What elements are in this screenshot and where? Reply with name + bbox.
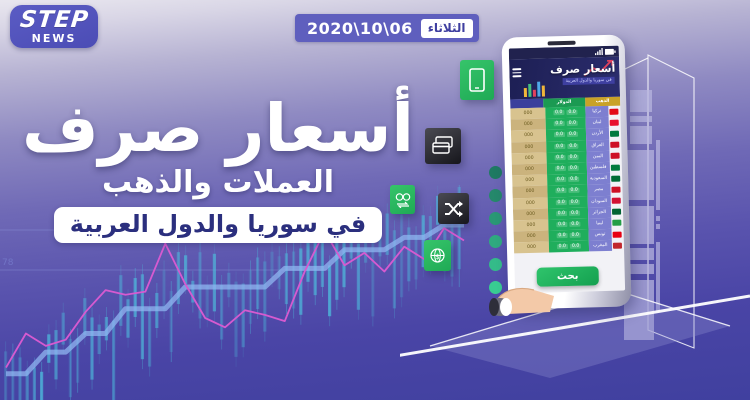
promo-banner: 78 25.01 (0, 0, 750, 400)
country-flag-icon (611, 206, 623, 218)
cell-gold: 000 (512, 186, 547, 198)
progress-dot (489, 235, 502, 248)
progress-dot (489, 189, 502, 202)
headline-line-2: العملات والذهب (18, 168, 418, 198)
signal-icon (595, 48, 603, 55)
app-header: أسعار صرف في سوريا والدول العربية (509, 57, 620, 100)
country-flag-icon (612, 240, 624, 252)
cell-country: تونس (588, 229, 611, 241)
cell-country: لبنان (585, 117, 608, 129)
cell-country: فلسطين (587, 162, 610, 174)
country-flag-icon (610, 173, 622, 185)
phone-screen: أسعار صرف في سوريا والدول العربية الذهب … (509, 46, 625, 294)
country-flag-icon (608, 106, 620, 118)
progress-dot (489, 166, 502, 179)
app-title: أسعار صرف (550, 62, 616, 77)
cell-gold: 000 (510, 108, 545, 120)
cell-country: الجزائر (588, 207, 611, 219)
app-subtitle: في سوريا والدول العربية (563, 77, 615, 85)
cell-country: ليبيا (588, 218, 611, 230)
country-flag-icon (611, 195, 623, 207)
country-flag-icon (609, 128, 621, 140)
phone-mockup: أسعار صرف في سوريا والدول العربية الذهب … (501, 34, 631, 309)
logo-text-news: NEWS (32, 33, 77, 44)
cell-country: الأردن (586, 128, 609, 140)
svg-text:$: $ (435, 253, 439, 261)
cell-gold: 000 (511, 119, 546, 131)
cell-gold: 000 (511, 141, 546, 153)
hand-cursor-illustration (488, 272, 558, 318)
cell-gold: 000 (514, 242, 549, 254)
chart-bars-icon (523, 78, 549, 97)
weekday-badge: الثلاثاء (421, 19, 473, 38)
date-text: 2020\10\06 (307, 19, 413, 38)
cell-gold: 000 (511, 152, 546, 164)
country-flag-icon (609, 150, 621, 162)
cell-usd: 0.00.0 (549, 241, 589, 253)
headline-line-1: أسعار صرف (18, 96, 418, 162)
globe-dollar-icon[interactable]: $ (424, 240, 451, 271)
currency-table: 0000.00.0تركيا0000.00.0لبنان0000.00.0الأ… (510, 106, 624, 254)
table-row[interactable]: 0000.00.0المغرب (514, 240, 624, 254)
credit-cards-icon[interactable] (425, 128, 461, 164)
smartphone-icon[interactable] (460, 60, 494, 100)
cell-country: مصر (587, 184, 610, 196)
country-flag-icon (611, 217, 623, 229)
cell-gold: 000 (513, 208, 548, 220)
country-flag-icon (610, 161, 622, 173)
country-flag-icon (611, 229, 623, 241)
chart-label-78: 78 (2, 258, 14, 268)
cell-gold: 000 (513, 197, 548, 209)
headline-block: أسعار صرف العملات والذهب في سوريا والدول… (18, 96, 418, 243)
cell-country: تركيا (585, 106, 608, 118)
hamburger-icon[interactable] (512, 68, 521, 79)
progress-dot (489, 258, 502, 271)
logo-text-step: STEP (18, 9, 89, 32)
step-news-logo[interactable]: STEP NEWS (10, 5, 98, 48)
shuffle-arrows-icon[interactable] (438, 193, 469, 224)
headline-pill: في سوريا والدول العربية (54, 207, 382, 243)
cell-gold: 000 (511, 130, 546, 142)
country-flag-icon (610, 184, 622, 196)
cell-country: العراق (586, 139, 609, 151)
cell-gold: 000 (512, 163, 547, 175)
cell-gold: 000 (512, 175, 547, 187)
cell-gold: 000 (513, 219, 548, 231)
cell-gold: 000 (514, 231, 549, 243)
progress-dot (489, 212, 502, 225)
cell-country: اليمن (586, 151, 609, 163)
country-flag-icon (608, 117, 620, 129)
cell-country: المغرب (589, 240, 612, 252)
date-bar: 2020\10\06 الثلاثاء (295, 14, 479, 42)
cell-country: السعودية (587, 173, 610, 185)
phone-speaker (548, 41, 576, 45)
currency-exchange-icon[interactable] (390, 185, 415, 214)
headline-line-3: في سوريا والدول العربية (70, 212, 366, 236)
battery-icon (605, 48, 616, 54)
country-flag-icon (609, 139, 621, 151)
cell-country: السودان (587, 195, 610, 207)
